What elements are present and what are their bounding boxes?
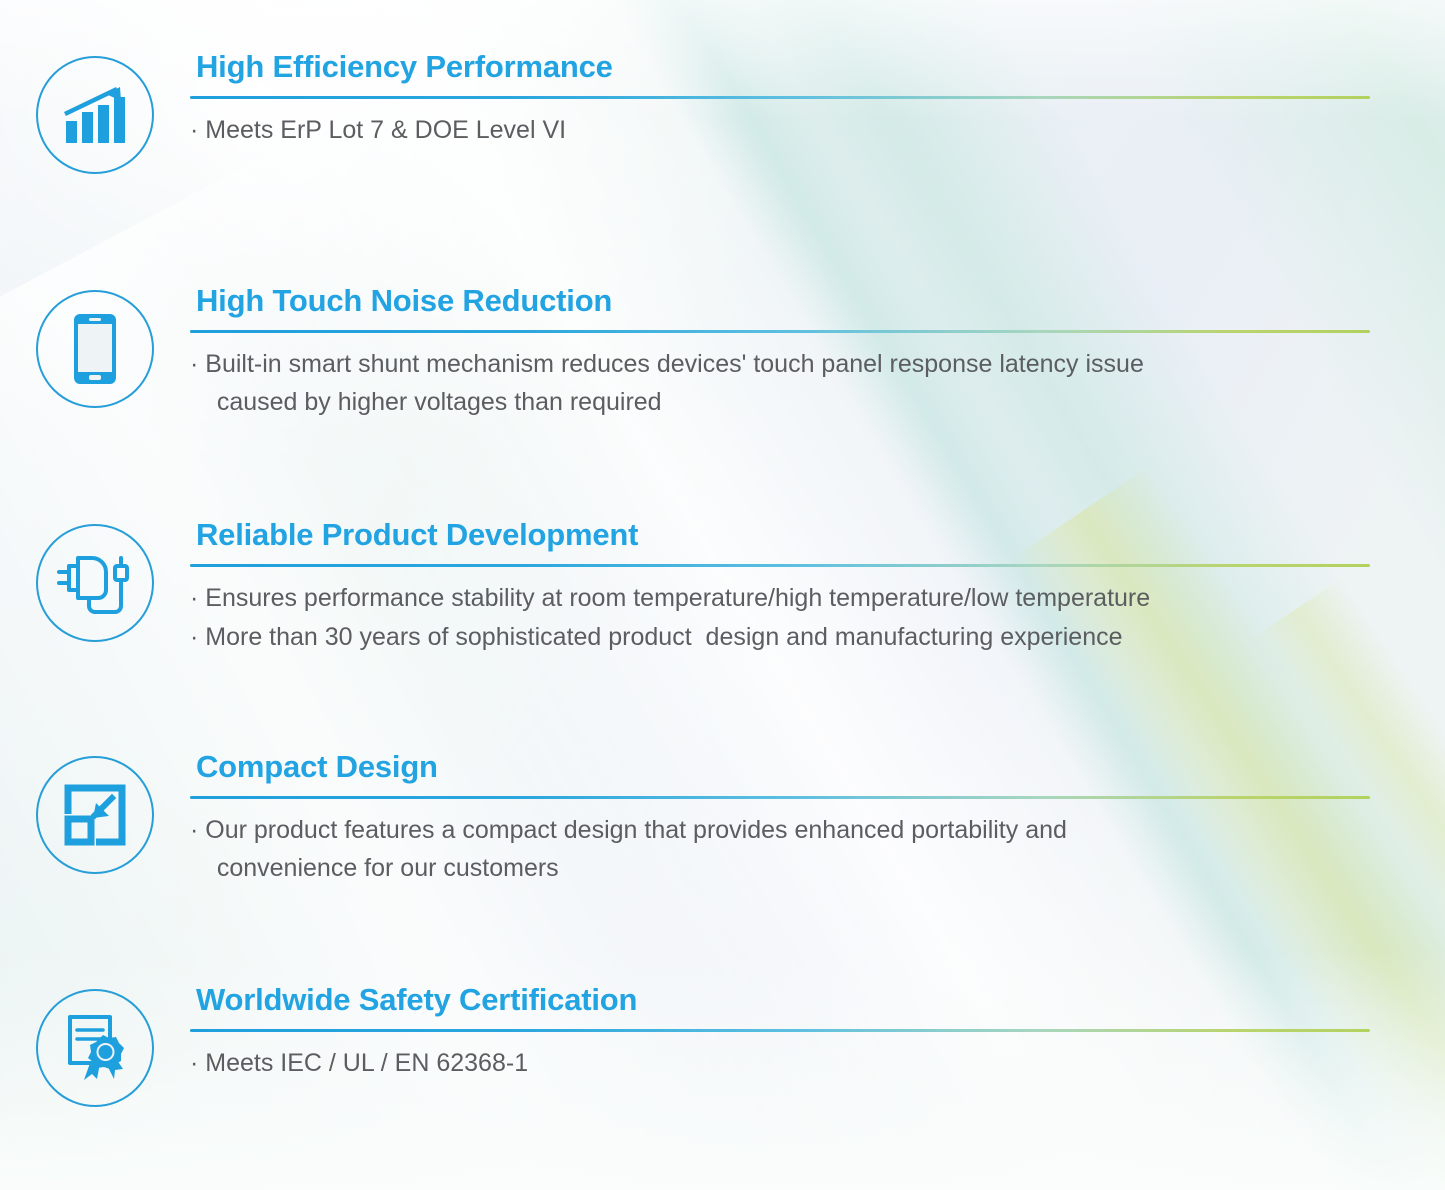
feature-item-worldwide-safety-certification: Worldwide Safety Certification · Meets I… bbox=[0, 983, 1445, 1107]
bar-chart-growth-icon bbox=[62, 85, 128, 145]
feature-icon-container bbox=[0, 518, 190, 642]
feature-title: Worldwide Safety Certification bbox=[196, 983, 1370, 1016]
feature-bullet: · Meets ErP Lot 7 & DOE Level VI bbox=[190, 111, 1370, 149]
feature-title: High Touch Noise Reduction bbox=[196, 284, 1370, 317]
icon-ring bbox=[36, 524, 154, 642]
compact-resize-icon bbox=[63, 783, 127, 847]
icon-ring bbox=[36, 56, 154, 174]
icon-ring bbox=[36, 756, 154, 874]
feature-highlights-page: High Efficiency Performance · Meets ErP … bbox=[0, 0, 1445, 1190]
feature-bullet-list: · Built-in smart shunt mechanism reduces… bbox=[190, 345, 1370, 421]
feature-bullet: · Meets IEC / UL / EN 62368-1 bbox=[190, 1044, 1370, 1082]
feature-icon-container bbox=[0, 983, 190, 1107]
feature-item-high-efficiency-performance: High Efficiency Performance · Meets ErP … bbox=[0, 50, 1445, 174]
feature-bullet-list: · Ensures performance stability at room … bbox=[190, 579, 1370, 656]
icon-ring bbox=[36, 989, 154, 1107]
feature-text-block: Reliable Product Development · Ensures p… bbox=[190, 518, 1445, 656]
certificate-award-icon bbox=[62, 1013, 128, 1083]
feature-bullet-list: · Meets ErP Lot 7 & DOE Level VI bbox=[190, 111, 1370, 149]
feature-icon-container bbox=[0, 284, 190, 408]
feature-icon-container bbox=[0, 50, 190, 174]
feature-text-block: Worldwide Safety Certification · Meets I… bbox=[190, 983, 1445, 1082]
feature-bullet-list: · Meets IEC / UL / EN 62368-1 bbox=[190, 1044, 1370, 1082]
feature-bullet-list: · Our product features a compact design … bbox=[190, 811, 1370, 887]
feature-divider bbox=[190, 96, 1370, 99]
feature-bullet: · Ensures performance stability at room … bbox=[190, 579, 1370, 617]
feature-title: Compact Design bbox=[196, 750, 1370, 783]
feature-title: High Efficiency Performance bbox=[196, 50, 1370, 83]
feature-divider bbox=[190, 564, 1370, 567]
feature-bullet: · More than 30 years of sophisticated pr… bbox=[190, 618, 1370, 656]
feature-bullet: · Our product features a compact design … bbox=[190, 811, 1370, 887]
feature-divider bbox=[190, 330, 1370, 333]
smartphone-icon bbox=[73, 313, 117, 385]
power-adapter-icon bbox=[57, 550, 133, 616]
feature-divider bbox=[190, 1029, 1370, 1032]
feature-item-high-touch-noise-reduction: High Touch Noise Reduction · Built-in sm… bbox=[0, 284, 1445, 421]
feature-text-block: Compact Design · Our product features a … bbox=[190, 750, 1445, 887]
feature-item-compact-design: Compact Design · Our product features a … bbox=[0, 750, 1445, 887]
feature-item-reliable-product-development: Reliable Product Development · Ensures p… bbox=[0, 518, 1445, 656]
feature-bullet: · Built-in smart shunt mechanism reduces… bbox=[190, 345, 1370, 421]
feature-text-block: High Efficiency Performance · Meets ErP … bbox=[190, 50, 1445, 149]
feature-text-block: High Touch Noise Reduction · Built-in sm… bbox=[190, 284, 1445, 421]
icon-ring bbox=[36, 290, 154, 408]
feature-divider bbox=[190, 796, 1370, 799]
feature-icon-container bbox=[0, 750, 190, 874]
feature-title: Reliable Product Development bbox=[196, 518, 1370, 551]
